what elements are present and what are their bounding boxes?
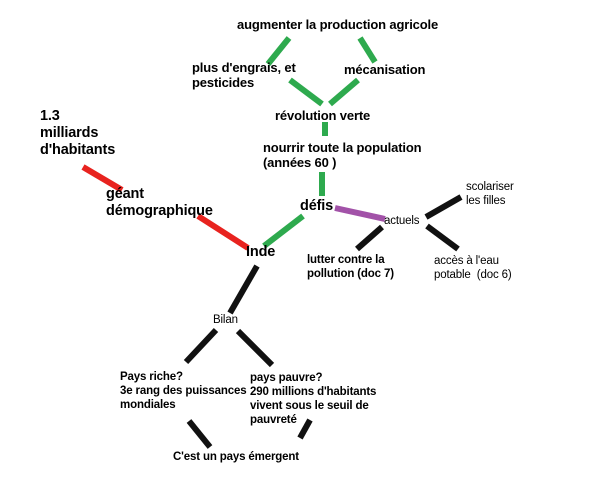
node-revolution-verte: révolution verte <box>275 108 370 123</box>
node-plus-engrais-pesticides: plus d'engrais, et pesticides <box>192 60 296 90</box>
edge-bilan-payspauvre <box>238 331 272 365</box>
node-acces-eau-potable: accès à l'eau potable (doc 6) <box>434 254 512 282</box>
node-lutter-contre-pollution: lutter contre la pollution (doc 7) <box>307 253 394 281</box>
node-scolariser-les-filles: scolariser les filles <box>466 180 514 208</box>
node-defis: défis <box>300 198 333 215</box>
node-nourrir-population: nourrir toute la population (années 60 ) <box>263 140 421 170</box>
node-pays-emergent: C'est un pays émergent <box>173 450 299 464</box>
mindmap-canvas: augmenter la production agricole plus d'… <box>0 0 603 485</box>
edge-paysriche-emergent <box>189 421 210 447</box>
edge-inde-defis <box>264 216 303 246</box>
node-augmenter-production-agricole: augmenter la production agricole <box>237 17 438 32</box>
edge-inde-bilan <box>230 266 257 313</box>
edge-actuels-scolariser <box>426 197 461 217</box>
node-1-3-milliards-habitants: 1.3 milliards d'habitants <box>40 108 115 159</box>
edge-defis-actuels <box>335 208 385 219</box>
node-pays-riche: Pays riche? 3e rang des puissances mondi… <box>120 370 246 412</box>
edge-mecanisation-augmenter <box>360 38 375 62</box>
edge-geant-inde <box>198 216 248 248</box>
edge-bilan-paysriche <box>186 330 216 362</box>
edge-actuels-eau <box>427 226 458 249</box>
node-geant-demographique: géant démographique <box>106 186 213 220</box>
node-bilan: Bilan <box>213 313 238 327</box>
edge-actuels-pollution <box>357 227 382 249</box>
node-mecanisation: mécanisation <box>344 62 425 77</box>
edge-revolution-mecanisation <box>330 80 358 104</box>
node-inde: Inde <box>246 244 275 261</box>
node-actuels: actuels <box>384 214 419 228</box>
node-pays-pauvre: pays pauvre? 290 millions d'habitants vi… <box>250 371 376 427</box>
